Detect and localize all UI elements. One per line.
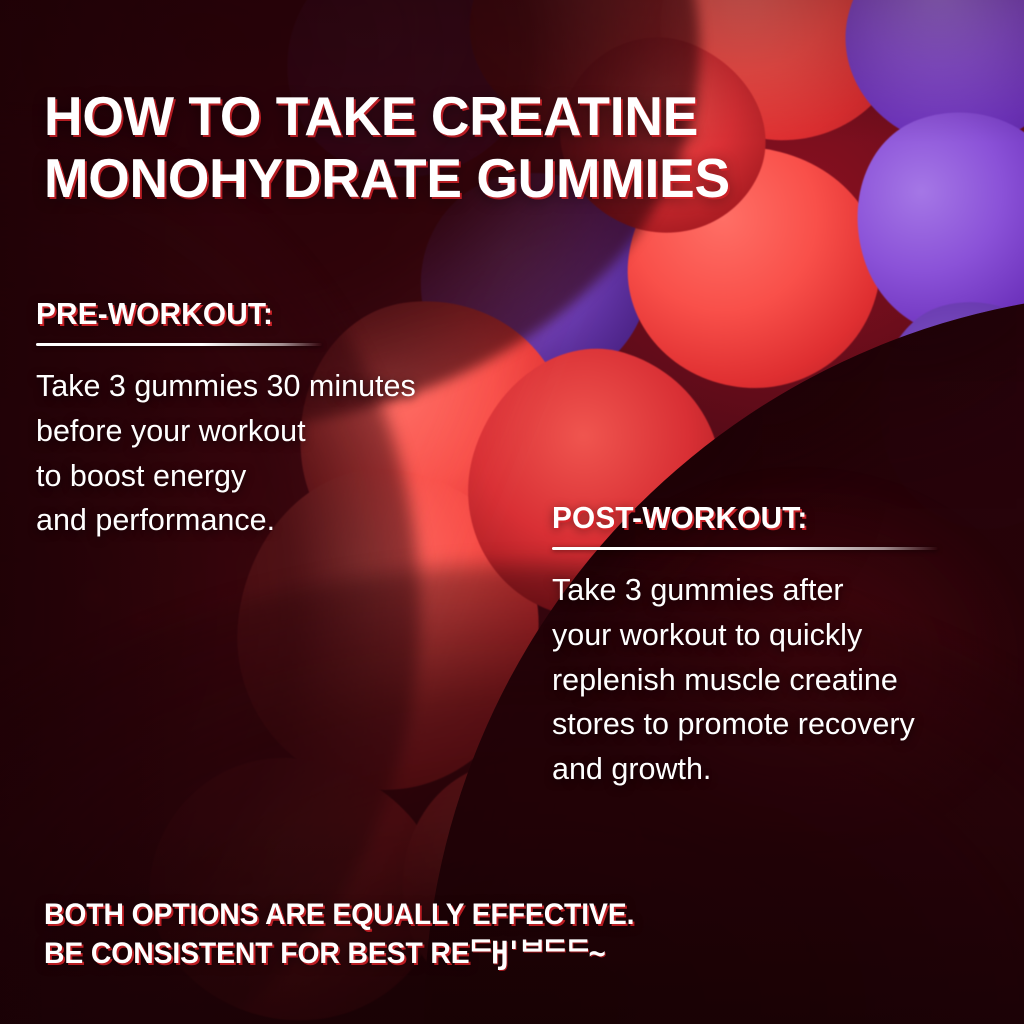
poster-canvas: HOW TO TAKE CREATINE MONOHYDRATE GUMMIES… (0, 0, 1024, 1024)
page-title-line-2: MONOHYDRATE GUMMIES (44, 147, 917, 209)
section-post-workout: POST-WORKOUT: Take 3 gummies after your … (552, 500, 1002, 792)
section-body-post-workout: Take 3 gummies after your workout to qui… (552, 568, 1002, 792)
footer-glitched-word: ᄃӇ'ᄇᄃᄃ~ (468, 933, 602, 974)
footer-line-2: BE CONSISTENT FOR BEST REᄃӇ'ᄇᄃᄃ~ (44, 934, 956, 973)
body-line: stores to promote recovery (552, 702, 1002, 747)
body-line: Take 3 gummies after (552, 568, 1002, 613)
body-line: and performance. (36, 498, 516, 543)
body-line: to boost energy (36, 454, 516, 499)
body-line: replenish muscle creatine (552, 658, 1002, 703)
footer-line-1: BOTH OPTIONS ARE EQUALLY EFFECTIVE. (44, 896, 956, 934)
footer-callout: BOTH OPTIONS ARE EQUALLY EFFECTIVE. BE C… (44, 896, 956, 974)
body-line: before your workout (36, 409, 516, 454)
section-heading-pre-workout: PRE-WORKOUT: (36, 296, 497, 332)
page-title-line-1: HOW TO TAKE CREATINE (44, 85, 917, 147)
body-line: and growth. (552, 747, 1002, 792)
section-body-pre-workout: Take 3 gummies 30 minutes before your wo… (36, 364, 516, 543)
footer-line-2-text: BE CONSISTENT FOR BEST RE (44, 937, 470, 970)
heading-underline-post-workout (552, 547, 938, 550)
body-line: Take 3 gummies 30 minutes (36, 364, 516, 409)
content-layer: HOW TO TAKE CREATINE MONOHYDRATE GUMMIES… (0, 0, 1024, 1024)
page-title: HOW TO TAKE CREATINE MONOHYDRATE GUMMIES (44, 85, 917, 210)
section-pre-workout: PRE-WORKOUT: Take 3 gummies 30 minutes b… (36, 296, 516, 543)
heading-underline-pre-workout (36, 343, 322, 346)
body-line: your workout to quickly (552, 613, 1002, 658)
section-heading-post-workout: POST-WORKOUT: (552, 500, 984, 536)
